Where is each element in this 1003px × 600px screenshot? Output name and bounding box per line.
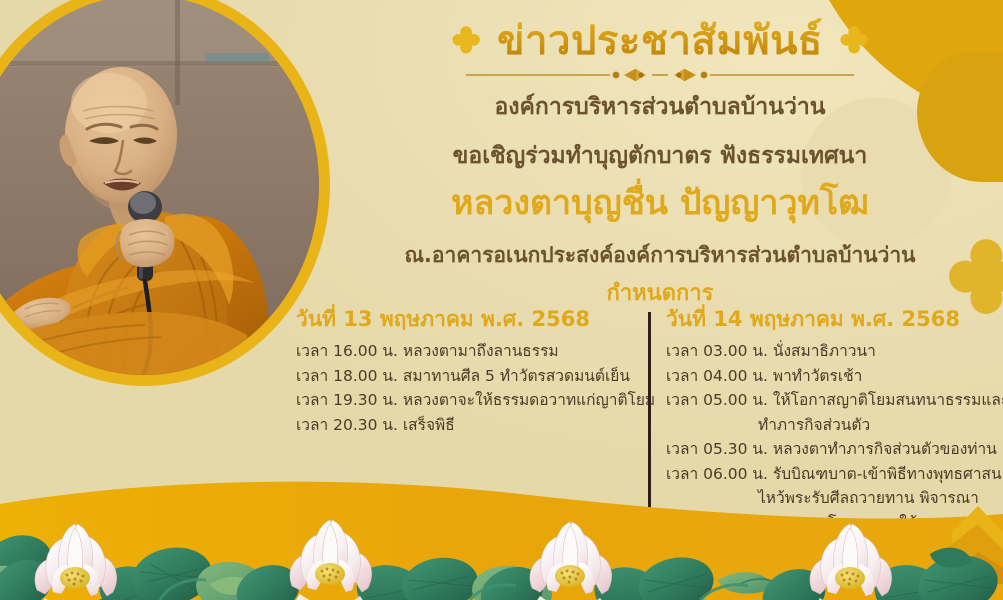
- list-item: เวลา 20.30 น. เสร็จพิธี: [296, 413, 626, 437]
- list-item: เวลา 06.00 น. รับบิณฑบาต-เข้าพิธีทางพุทธ…: [666, 462, 986, 486]
- agenda-label: กำหนดการ: [330, 279, 990, 310]
- date-heading-day-one: วันที่ 13 พฤษภาคม พ.ศ. 2568: [296, 306, 626, 333]
- schedule-column-day-two: วันที่ 14 พฤษภาคม พ.ศ. 2568 เวลา 03.00 น…: [644, 306, 986, 535]
- list-item: เวลา 05.30 น. หลวงตาทำภารกิจส่วนตัวของท่…: [666, 437, 986, 461]
- list-item: เวลา 04.00 น. พาทำวัตรเช้า: [666, 364, 986, 388]
- monk-name: หลวงตาบุญชื่น ปัญญาวุทโฒ: [330, 179, 990, 228]
- quatrefoil-flower-icon-left: [451, 25, 481, 59]
- list-item-continuation: อาหาร อนุโมทนาบุญให้พร: [666, 511, 986, 535]
- list-item: เวลา 05.00 น. ให้โอกาสญาติโยมสนทนาธรรมแล…: [666, 388, 986, 412]
- monk-photo-frame: [0, 0, 330, 386]
- quatrefoil-flower-icon-right: [839, 25, 869, 59]
- list-item: เวลา 16.00 น. หลวงตามาถึงลานธรรม: [296, 339, 626, 363]
- page-title: ข่าวประชาสัมพันธ์: [497, 18, 823, 65]
- list-item-continuation: ทำภารกิจส่วนตัว: [666, 413, 986, 437]
- monk-photo: [0, 0, 319, 375]
- date-heading-day-two: วันที่ 14 พฤษภาคม พ.ศ. 2568: [666, 306, 986, 333]
- ornamental-divider: [460, 67, 860, 83]
- invitation-line: ขอเชิญร่วมทำบุญตักบาตร ฟังธรรมเทศนา: [330, 139, 990, 174]
- schedule-column-day-one: วันที่ 13 พฤษภาคม พ.ศ. 2568 เวลา 16.00 น…: [296, 306, 644, 437]
- schedule-block: วันที่ 13 พฤษภาคม พ.ศ. 2568 เวลา 16.00 น…: [296, 306, 986, 535]
- venue-line: ณ.อาคารอเนกประสงค์องค์การบริหารส่วนตำบลบ…: [330, 240, 990, 270]
- title-row: ข่าวประชาสัมพันธ์: [330, 18, 990, 65]
- schedule-list-day-two: เวลา 03.00 น. นั่งสมาธิภาวนา เวลา 04.00 …: [666, 339, 986, 535]
- poster-root: ข่าวประชาสัมพันธ์ องค์การบริหารส่วนตำบลบ…: [0, 0, 1003, 600]
- list-item: เวลา 19.30 น. หลวงตาจะให้ธรรมดอวาทแก่ญาต…: [296, 388, 626, 412]
- list-item: เวลา 18.00 น. สมาทานศีล 5 ทำวัตรสวดมนต์เ…: [296, 364, 626, 388]
- organization-name: องค์การบริหารส่วนตำบลบ้านว่าน: [330, 91, 990, 124]
- list-item: เวลา 03.00 น. นั่งสมาธิภาวนา: [666, 339, 986, 363]
- header-block: ข่าวประชาสัมพันธ์ องค์การบริหารส่วนตำบลบ…: [330, 18, 990, 310]
- schedule-list-day-one: เวลา 16.00 น. หลวงตามาถึงลานธรรม เวลา 18…: [296, 339, 626, 437]
- list-item-continuation: ไหว้พระรับศีลถวายทาน พิจารณา: [666, 486, 986, 510]
